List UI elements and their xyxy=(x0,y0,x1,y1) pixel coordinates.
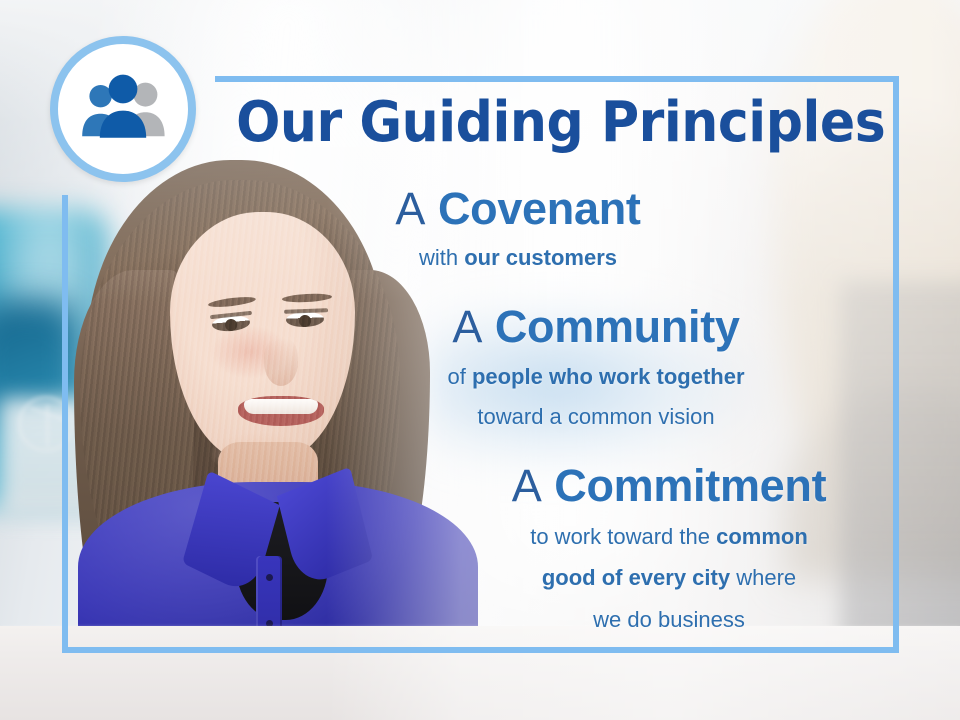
principle-heading: A Covenant xyxy=(343,185,693,233)
principle-subtitle-line: toward a common vision xyxy=(390,403,802,432)
subtitle-span: of xyxy=(447,364,471,389)
principle-subtitle-line: with our customers xyxy=(343,244,693,273)
principle-keyword: Commitment xyxy=(554,460,826,511)
subtitle-span: toward a common vision xyxy=(477,404,714,429)
principle-community: A Community of people who work together … xyxy=(390,303,802,432)
subtitle-span: where xyxy=(730,565,796,590)
subtitle-span-bold: good of every city xyxy=(542,565,730,590)
principle-subtitle-line: we do business xyxy=(450,606,888,635)
principle-keyword: Covenant xyxy=(438,183,641,234)
subtitle-span: to work toward the xyxy=(530,524,716,549)
principle-article: A xyxy=(512,460,542,511)
principle-covenant: A Covenant with our customers xyxy=(343,185,693,272)
principle-commitment: A Commitment to work toward the common g… xyxy=(450,462,888,634)
principle-heading: A Commitment xyxy=(450,462,888,510)
subtitle-span-bold: people who work together xyxy=(472,364,745,389)
subtitle-span-bold: our customers xyxy=(464,245,617,270)
subtitle-span: with xyxy=(419,245,464,270)
principle-keyword: Community xyxy=(495,301,740,352)
principle-subtitle-line: of people who work together xyxy=(390,363,802,392)
subtitle-span: we do business xyxy=(593,607,745,632)
guiding-principles-banner: FLOW FLOW AUTOMOTIVE xyxy=(0,0,960,720)
text-content: Our Guiding Principles A Covenant with o… xyxy=(0,0,960,720)
principle-subtitle-line: good of every city where xyxy=(450,564,888,593)
principle-article: A xyxy=(395,183,425,234)
principle-heading: A Community xyxy=(390,303,802,351)
page-title: Our Guiding Principles xyxy=(236,94,850,153)
principle-subtitle-line: to work toward the common xyxy=(450,523,888,552)
principle-article: A xyxy=(452,301,482,352)
subtitle-span-bold: common xyxy=(716,524,808,549)
